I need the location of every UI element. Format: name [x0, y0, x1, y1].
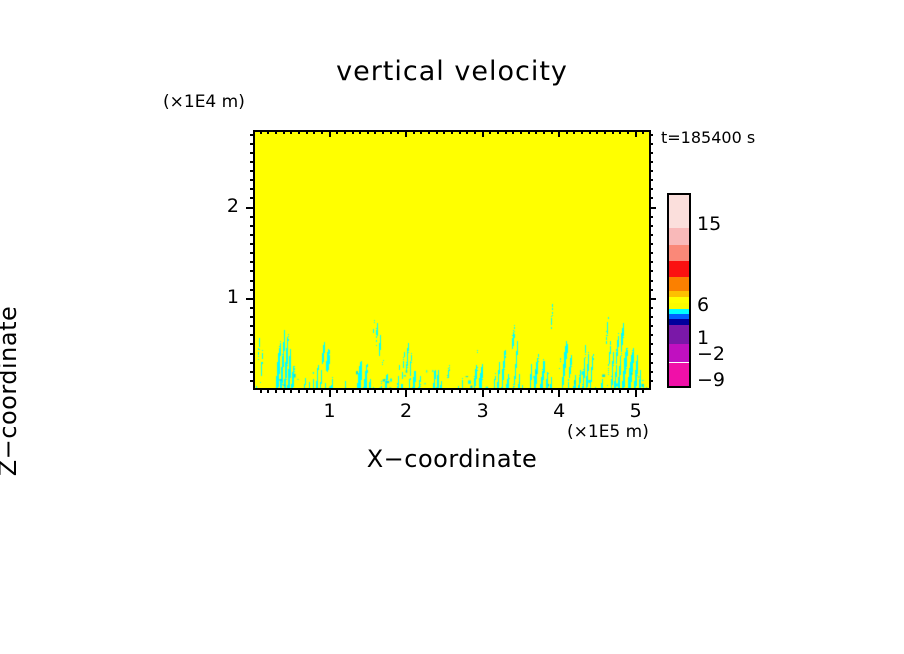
x-tick-label: 2: [386, 400, 426, 422]
axis-tick: [528, 388, 530, 393]
axis-tick: [612, 388, 614, 393]
axis-tick: [275, 388, 277, 393]
axis-tick: [649, 197, 653, 199]
axis-tick: [466, 130, 468, 134]
axis-tick: [649, 380, 653, 382]
axis-tick: [649, 289, 653, 291]
axis-tick: [298, 130, 300, 134]
axis-tick: [596, 388, 598, 393]
axis-tick: [250, 216, 255, 218]
axis-tick: [558, 388, 560, 397]
axis-tick: [250, 152, 255, 154]
axis-tick: [250, 334, 255, 336]
axis-tick: [505, 388, 507, 393]
axis-tick: [649, 243, 653, 245]
axis-tick: [250, 161, 255, 163]
axis-tick: [649, 216, 653, 218]
axis-tick: [428, 130, 430, 134]
axis-tick: [250, 362, 255, 364]
x-tick-label: 1: [310, 400, 350, 422]
axis-tick: [649, 316, 653, 318]
axis-tick: [250, 280, 255, 282]
axis-tick: [250, 353, 255, 355]
colorbar-band: [669, 363, 689, 386]
axis-tick: [250, 261, 255, 263]
axis-tick: [250, 307, 255, 309]
axis-tick: [612, 130, 614, 134]
figure-canvas: vertical velocity (×1E4 m) Z−coordinate …: [0, 0, 904, 654]
axis-tick: [573, 388, 575, 393]
axis-tick: [459, 130, 461, 134]
axis-tick: [367, 130, 369, 134]
axis-tick: [566, 388, 568, 393]
axis-tick: [390, 388, 392, 393]
axis-tick: [649, 225, 653, 227]
axis-tick: [512, 130, 514, 134]
axis-tick: [344, 388, 346, 393]
axis-tick: [250, 289, 255, 291]
axis-tick: [497, 130, 499, 134]
colorbar-band: [669, 245, 689, 261]
axis-tick: [313, 388, 315, 393]
axis-tick: [313, 130, 315, 134]
axis-tick: [382, 388, 384, 393]
axis-tick: [290, 388, 292, 393]
axis-tick: [649, 152, 653, 154]
axis-tick: [359, 388, 361, 393]
axis-tick: [306, 130, 308, 134]
axis-tick: [443, 388, 445, 393]
x-axis-title: X−coordinate: [0, 445, 904, 473]
axis-tick: [649, 325, 653, 327]
axis-tick: [482, 388, 484, 397]
axis-tick: [250, 325, 255, 327]
axis-tick: [428, 388, 430, 393]
axis-tick: [497, 388, 499, 393]
axis-tick: [573, 130, 575, 134]
colorbar-tick-label: 15: [697, 213, 721, 235]
axis-tick: [352, 130, 354, 134]
axis-tick: [535, 130, 537, 134]
axis-tick: [329, 130, 331, 137]
axis-tick: [267, 388, 269, 393]
axis-tick: [250, 316, 255, 318]
axis-tick: [581, 388, 583, 393]
colorbar-band: [669, 277, 689, 291]
axis-tick: [329, 388, 331, 397]
axis-tick: [250, 170, 255, 172]
axis-tick: [466, 388, 468, 393]
axis-tick: [290, 130, 292, 134]
axis-tick: [649, 261, 653, 263]
axis-tick: [451, 388, 453, 393]
axis-tick: [635, 130, 637, 137]
axis-tick: [359, 130, 361, 134]
axis-tick: [283, 388, 285, 393]
axis-tick: [250, 143, 255, 145]
axis-tick: [649, 179, 653, 181]
axis-tick: [551, 388, 553, 393]
page-title: vertical velocity: [0, 56, 904, 87]
axis-tick: [390, 130, 392, 134]
axis-tick: [642, 388, 644, 393]
axis-tick: [298, 388, 300, 393]
axis-tick: [451, 130, 453, 134]
axis-tick: [267, 130, 269, 134]
axis-tick: [436, 130, 438, 134]
axis-tick: [275, 130, 277, 134]
axis-tick: [382, 130, 384, 134]
axis-tick: [474, 130, 476, 134]
axis-tick: [397, 388, 399, 393]
axis-tick: [649, 353, 653, 355]
axis-tick: [246, 207, 255, 209]
axis-tick: [520, 388, 522, 393]
axis-tick: [482, 130, 484, 137]
axis-tick: [397, 130, 399, 134]
axis-tick: [374, 388, 376, 393]
colorbar-tick-label: 6: [697, 294, 709, 316]
axis-tick: [642, 130, 644, 134]
axis-tick: [649, 252, 653, 254]
axis-tick: [250, 252, 255, 254]
axis-tick: [336, 130, 338, 134]
axis-tick: [443, 130, 445, 134]
axis-tick: [250, 270, 255, 272]
axis-tick: [260, 130, 262, 134]
axis-tick: [649, 234, 653, 236]
axis-tick: [649, 280, 653, 282]
axis-tick: [352, 388, 354, 393]
axis-tick: [321, 130, 323, 134]
colorbar-tick-label: −9: [697, 369, 725, 391]
axis-tick: [250, 188, 255, 190]
axis-tick: [649, 298, 656, 300]
axis-tick: [649, 307, 653, 309]
axis-tick: [649, 170, 653, 172]
axis-tick: [589, 388, 591, 393]
axis-tick: [474, 388, 476, 393]
axis-tick: [250, 134, 255, 136]
axis-tick: [649, 371, 653, 373]
axis-tick: [596, 130, 598, 134]
axis-tick: [250, 243, 255, 245]
axis-tick: [528, 130, 530, 134]
axis-tick: [649, 207, 656, 209]
axis-tick: [649, 270, 653, 272]
colorbar-band: [669, 195, 689, 228]
axis-tick: [436, 388, 438, 393]
heatmap-plot-area[interactable]: [253, 130, 651, 390]
x-tick-label: 4: [539, 400, 579, 422]
axis-tick: [250, 343, 255, 345]
axis-tick: [374, 130, 376, 134]
title-text: vertical velocity: [336, 56, 568, 87]
axis-tick: [558, 130, 560, 137]
axis-tick: [649, 343, 653, 345]
axis-tick: [246, 298, 255, 300]
axis-tick: [489, 388, 491, 393]
heatmap-canvas: [255, 132, 649, 388]
axis-tick: [520, 130, 522, 134]
axis-tick: [250, 179, 255, 181]
axis-tick: [543, 130, 545, 134]
axis-tick: [489, 130, 491, 134]
axis-tick: [649, 143, 653, 145]
axis-tick: [604, 130, 606, 134]
axis-tick: [459, 388, 461, 393]
axis-tick: [649, 362, 653, 364]
axis-tick: [649, 161, 653, 163]
y-tick-label: 2: [205, 195, 239, 217]
axis-tick: [649, 134, 653, 136]
axis-tick: [321, 388, 323, 393]
axis-tick: [283, 130, 285, 134]
axis-tick: [619, 130, 621, 134]
axis-tick: [405, 130, 407, 137]
colorbar-band: [669, 261, 689, 277]
y-axis-unit-label: (×1E4 m): [163, 92, 245, 112]
axis-tick: [367, 388, 369, 393]
axis-tick: [250, 225, 255, 227]
colorbar-band: [669, 228, 689, 244]
axis-tick: [635, 388, 637, 397]
x-axis-unit-label: (×1E5 m): [567, 422, 649, 442]
axis-tick: [250, 380, 255, 382]
axis-tick: [336, 388, 338, 393]
colorbar[interactable]: [667, 193, 691, 388]
axis-tick: [566, 130, 568, 134]
axis-tick: [512, 388, 514, 393]
y-axis-title: Z−coordinate: [0, 166, 22, 616]
colorbar-tick-label: −2: [697, 343, 725, 365]
axis-tick: [250, 234, 255, 236]
axis-tick: [535, 388, 537, 393]
axis-tick: [420, 388, 422, 393]
axis-tick: [250, 371, 255, 373]
axis-tick: [405, 388, 407, 397]
colorbar-band: [669, 344, 689, 363]
axis-tick: [551, 130, 553, 134]
axis-tick: [543, 388, 545, 393]
x-tick-label: 5: [616, 400, 656, 422]
axis-tick: [420, 130, 422, 134]
axis-tick: [627, 388, 629, 393]
axis-tick: [413, 388, 415, 393]
axis-tick: [589, 130, 591, 134]
axis-tick: [260, 388, 262, 393]
axis-tick: [649, 334, 653, 336]
axis-tick: [619, 388, 621, 393]
axis-tick: [344, 130, 346, 134]
timestamp-annotation: t=185400 s: [661, 128, 755, 147]
axis-tick: [581, 130, 583, 134]
axis-tick: [413, 130, 415, 134]
axis-tick: [306, 388, 308, 393]
axis-tick: [604, 388, 606, 393]
colorbar-band: [669, 325, 689, 344]
axis-tick: [250, 197, 255, 199]
x-tick-label: 3: [463, 400, 503, 422]
axis-tick: [505, 130, 507, 134]
axis-tick: [649, 188, 653, 190]
y-tick-label: 1: [205, 286, 239, 308]
axis-tick: [627, 130, 629, 134]
